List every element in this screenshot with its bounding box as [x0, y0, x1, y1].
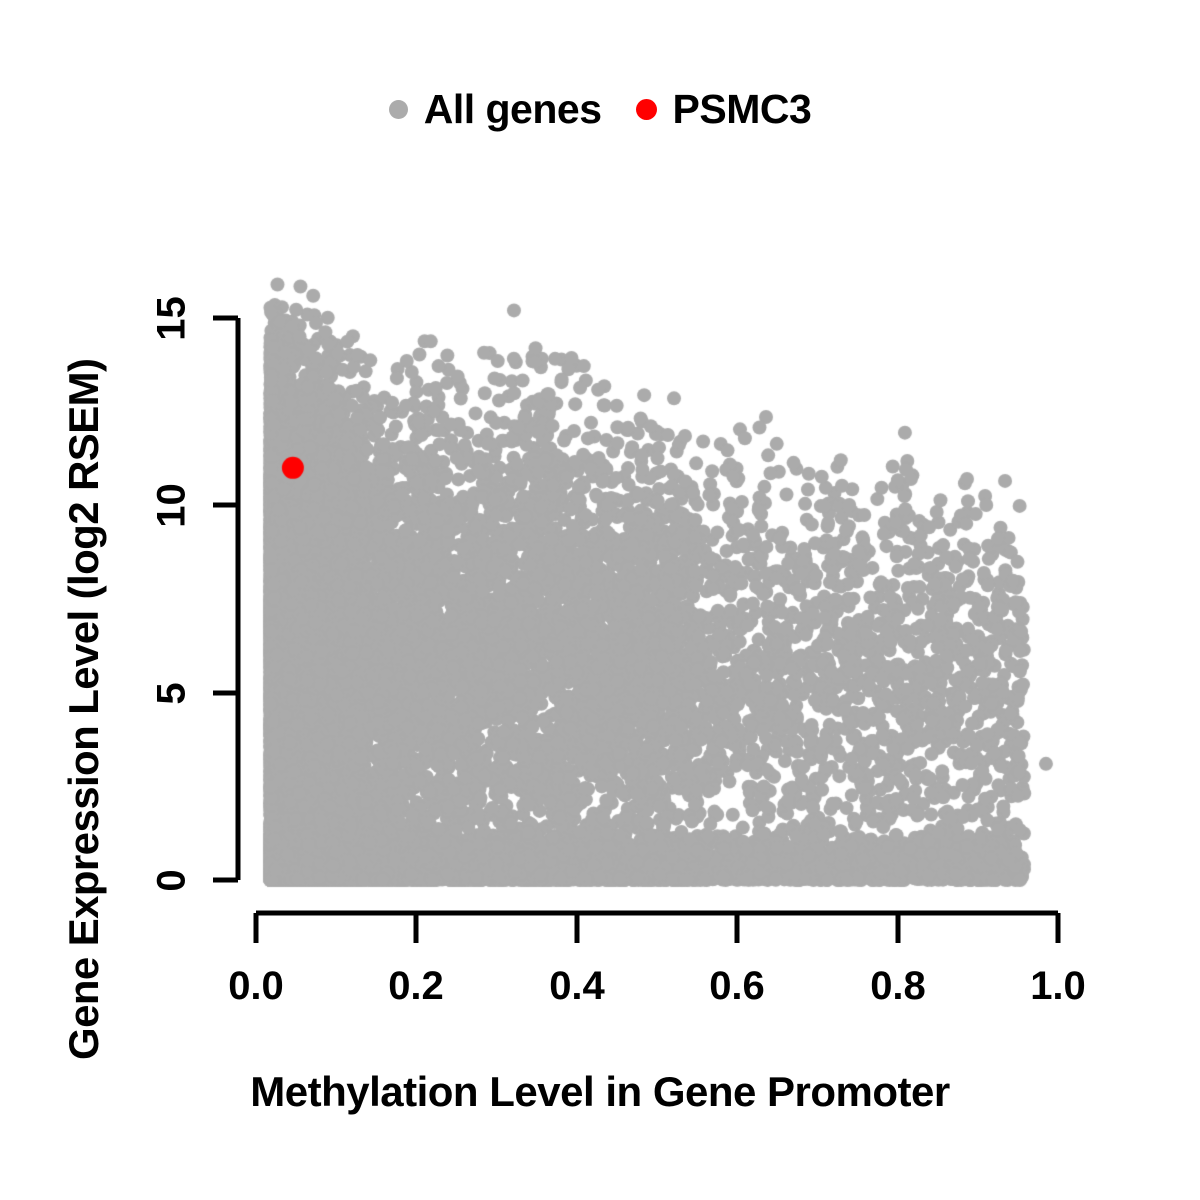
x-tick-label-0p4: 0.4: [517, 964, 637, 1009]
y-tick-label-15: 15: [150, 286, 195, 352]
y-axis-label: Gene Expression Level (log2 RSEM): [56, 0, 112, 1060]
x-tick-label-0p2: 0.2: [356, 964, 476, 1009]
x-tick-label-1p0: 1.0: [998, 964, 1118, 1009]
x-axis-label: Methylation Level in Gene Promoter: [0, 1068, 1200, 1116]
y-tick-label-0: 0: [150, 859, 195, 903]
scatter-plot-figure: All genes PSMC3 0 5 10 15 0.0 0.2 0.4 0.…: [0, 0, 1200, 1200]
y-tick-label-10: 10: [150, 473, 195, 539]
x-tick-label-0p8: 0.8: [838, 964, 958, 1009]
y-tick-label-5: 5: [150, 672, 195, 716]
axes-layer: [0, 0, 1200, 1200]
x-tick-label-0p0: 0.0: [196, 964, 316, 1009]
x-tick-label-0p6: 0.6: [677, 964, 797, 1009]
